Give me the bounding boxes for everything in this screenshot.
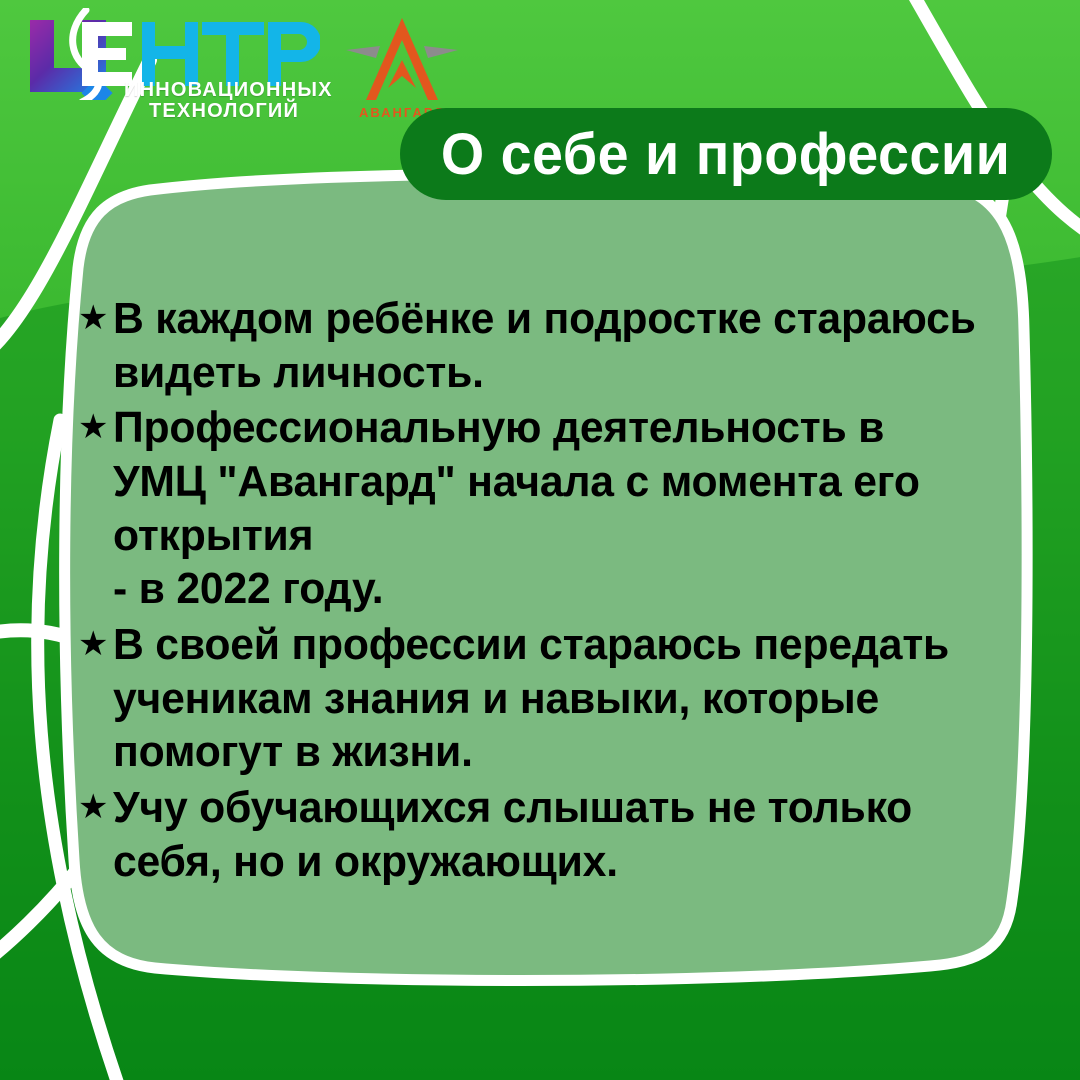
letter-te-stem (226, 22, 239, 86)
page-title: О себе и профессии (441, 121, 1010, 188)
chevron-outer (366, 18, 438, 100)
cit-subtitle-line1: ИННОВАЦИОННЫХ (124, 80, 324, 101)
letter-en-right (185, 22, 198, 86)
letter-er-bowl (281, 22, 320, 62)
letter-er-stem (268, 22, 281, 86)
slide-title-pill: О себе и профессии (400, 108, 1052, 200)
star-icon: ★ (78, 292, 108, 345)
cit-subtitle-line2: ТЕХНОЛОГИЙ (124, 101, 324, 122)
star-icon: ★ (78, 781, 108, 834)
letter-en-left (142, 22, 155, 86)
header-logos: ИННОВАЦИОННЫХ ТЕХНОЛОГИЙ АВАНГАРД (20, 8, 462, 128)
wing-left (346, 46, 380, 58)
wing-right (424, 46, 458, 58)
star-icon: ★ (78, 401, 108, 454)
list-item-text: Профессиональную деятельность в УМЦ "Ава… (113, 401, 1002, 616)
list-item-text: Учу обучающихся слышать не только себя, … (113, 781, 1002, 888)
list-item: ★ В своей профессии стараюсь передать уч… (78, 618, 1030, 779)
chevron-inner (388, 60, 416, 88)
list-item: ★ Учу обучающихся слышать не только себя… (78, 781, 1030, 888)
letter-en-bar (155, 46, 185, 59)
list-item-text: В своей профессии стараюсь передать учен… (113, 618, 1002, 779)
star-icon: ★ (78, 618, 108, 671)
list-item-text: В каждом ребёнке и подростке стараюсь ви… (113, 292, 1002, 399)
list-item: ★ В каждом ребёнке и подростке стараюсь … (78, 292, 1030, 399)
list-item: ★ Профессиональную деятельность в УМЦ "А… (78, 401, 1030, 616)
letter-ye (82, 22, 132, 86)
cit-logo: ИННОВАЦИОННЫХ ТЕХНОЛОГИЙ (20, 8, 320, 128)
slide-root: ИННОВАЦИОННЫХ ТЕХНОЛОГИЙ АВАНГАРД О себе… (0, 0, 1080, 1080)
bullet-list: ★ В каждом ребёнке и подростке стараюсь … (78, 292, 1030, 890)
cit-subtitle: ИННОВАЦИОННЫХ ТЕХНОЛОГИЙ (124, 80, 324, 122)
